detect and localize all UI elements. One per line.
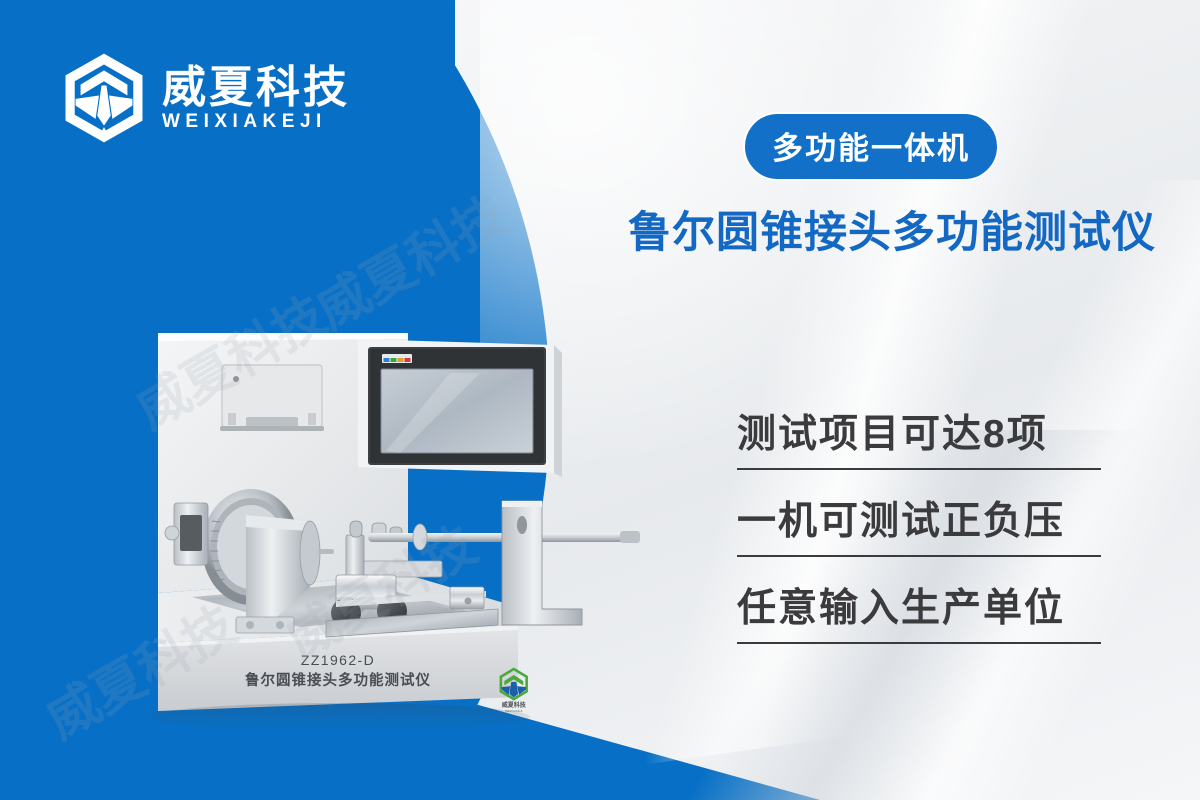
product-model-label: ZZ1962-D (301, 652, 375, 668)
svg-text:威夏科技: 威夏科技 (501, 701, 527, 709)
hmi-brand-label (382, 354, 412, 363)
list-item: 测试项目可达8项 (737, 412, 1101, 470)
feature-label: 任意输入生产单位 (737, 586, 1101, 632)
feature-label: 一机可测试正负压 (737, 499, 1101, 545)
divider (737, 642, 1101, 644)
feature-label: 测试项目可达8项 (737, 412, 1101, 458)
brand-name-cn: 威夏科技 (162, 66, 350, 110)
hmi-touchscreen[interactable] (358, 339, 562, 477)
hexagon-arrow-logo-icon (62, 52, 146, 144)
product-name-label: 鲁尔圆锥接头多功能测试仪 (245, 671, 431, 689)
base-logo-icon: 威夏科技 WEIXIAKEJI (501, 669, 527, 713)
product-photo: ZZ1962-D 鲁尔圆锥接头多功能测试仪 威夏科技 WEIXIAKEJI (150, 325, 690, 745)
access-plate (220, 365, 324, 431)
hero-badge: 多功能一体机 (743, 112, 999, 181)
brand-name-en: WEIXIAKEJI (162, 112, 350, 131)
brand-lockup: 威夏科技 WEIXIAKEJI (62, 52, 350, 144)
feature-list: 测试项目可达8项 一机可测试正负压 任意输入生产单位 (737, 412, 1101, 673)
divider (737, 468, 1101, 470)
poster-canvas: 威夏科技 WEIXIAKEJI 多功能一体机 鲁尔圆锥接头多功能测试仪 测试项目… (0, 0, 1200, 800)
divider (737, 555, 1101, 557)
list-item: 一机可测试正负压 (737, 499, 1101, 557)
list-item: 任意输入生产单位 (737, 586, 1101, 644)
page-title: 鲁尔圆锥接头多功能测试仪 (628, 198, 1188, 260)
